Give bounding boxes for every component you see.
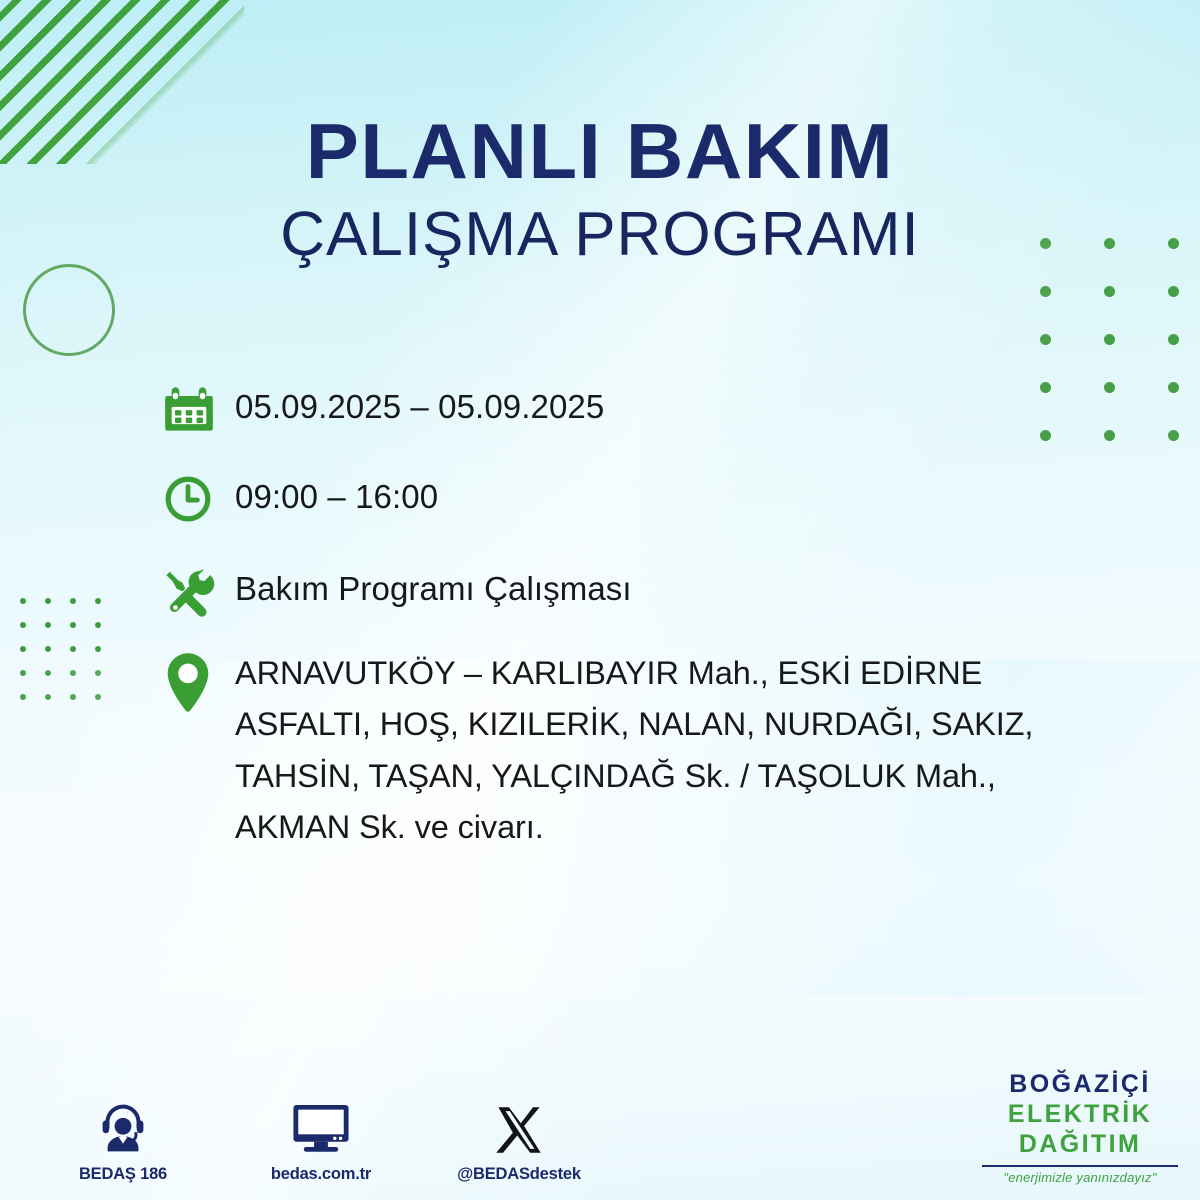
brand-tagline: "enerjimizle yanınızdayız" <box>974 1171 1186 1184</box>
maintenance-time-range: 09:00 – 16:00 <box>235 468 438 513</box>
contact-x-account[interactable]: @BEDASdestek <box>448 1094 590 1184</box>
maintenance-details: 05.09.2025 – 05.09.2025 09:00 – 16:00 <box>163 378 1153 875</box>
contact-call-center[interactable]: BEDAŞ 186 <box>52 1094 194 1184</box>
x-twitter-icon <box>448 1094 590 1156</box>
poster-footer: BEDAŞ 186 bedas.com.tr <box>0 1030 1200 1200</box>
calendar-icon <box>163 378 235 440</box>
location-line: AKMAN Sk. ve civarı. <box>235 802 1033 853</box>
brand-line-dagitim: DAĞITIM <box>974 1132 1186 1157</box>
page-title: PLANLI BAKIM <box>0 112 1200 190</box>
location-line: TAHSİN, TAŞAN, YALÇINDAĞ Sk. / TAŞOLUK M… <box>235 751 1033 802</box>
location-line: ASFALTI, HOŞ, KIZILERİK, NALAN, NURDAĞI,… <box>235 699 1033 750</box>
detail-row-location: ARNAVUTKÖY – KARLIBAYIR Mah., ESKİ EDİRN… <box>163 648 1153 853</box>
detail-row-work-type: Bakım Programı Çalışması <box>163 560 1153 622</box>
maintenance-date-range: 05.09.2025 – 05.09.2025 <box>235 378 604 423</box>
headset-support-icon <box>52 1094 194 1156</box>
tools-icon <box>163 560 235 622</box>
monitor-website-icon <box>250 1094 392 1156</box>
contact-channels: BEDAŞ 186 bedas.com.tr <box>52 1094 590 1184</box>
circle-outline-decoration <box>23 264 115 356</box>
maintenance-location: ARNAVUTKÖY – KARLIBAYIR Mah., ESKİ EDİRN… <box>235 648 1033 853</box>
page-subtitle: ÇALIŞMA PROGRAMI <box>0 204 1200 266</box>
location-line: ARNAVUTKÖY – KARLIBAYIR Mah., ESKİ EDİRN… <box>235 648 1033 699</box>
detail-row-date: 05.09.2025 – 05.09.2025 <box>163 378 1153 440</box>
dot-grid-left-decoration <box>20 598 118 694</box>
detail-row-time: 09:00 – 16:00 <box>163 468 1153 530</box>
location-pin-icon <box>163 648 235 714</box>
bedas-logo: BOĞAZİÇİ ELEKTRİK DAĞITIM "enerjimizle y… <box>974 1072 1186 1184</box>
contact-website-label: bedas.com.tr <box>250 1165 392 1184</box>
poster-header: PLANLI BAKIM ÇALIŞMA PROGRAMI <box>0 112 1200 266</box>
contact-x-label: @BEDASdestek <box>448 1165 590 1184</box>
brand-line-elektrik: ELEKTRİK <box>974 1102 1186 1127</box>
maintenance-work-type: Bakım Programı Çalışması <box>235 560 632 605</box>
contact-call-center-label: BEDAŞ 186 <box>52 1165 194 1184</box>
planned-maintenance-poster: PLANLI BAKIM ÇALIŞMA PROGRAMI <box>0 0 1200 1200</box>
clock-icon <box>163 468 235 530</box>
contact-website[interactable]: bedas.com.tr <box>250 1094 392 1184</box>
brand-divider <box>982 1165 1178 1167</box>
brand-line-bogazici: BOĞAZİÇİ <box>974 1072 1186 1097</box>
